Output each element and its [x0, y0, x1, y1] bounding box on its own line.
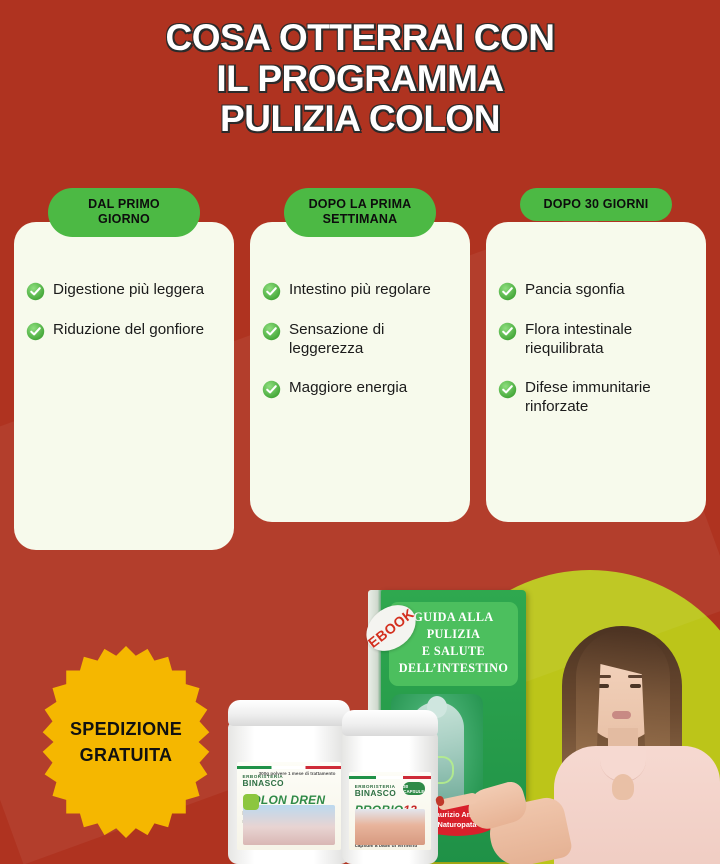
list-item: Digestione più leggera [26, 280, 220, 301]
capsule-count-badge: 30 CAPSULE [403, 782, 425, 795]
product-jar-colon-dren: 300g polvere 1 mese di trattamento ERBOR… [228, 700, 350, 864]
check-circle-icon [262, 322, 281, 341]
card-pill-label-1: DAL PRIMO GIORNO [48, 188, 200, 237]
product-weight: 300g polvere 1 mese di trattamento [259, 771, 336, 778]
benefit-card-first-week: DOPO LA PRIMA SETTIMANA Intestino più re… [250, 222, 470, 522]
benefit-list-2: Intestino più regolare Sensazione di leg… [262, 280, 456, 399]
check-circle-icon [498, 322, 517, 341]
benefit-text: Maggiore energia [289, 378, 407, 397]
list-item: Intestino più regolare [262, 280, 456, 301]
jar-body: 30 CAPSULE ERBORISTERIA BINASCO PROBIO12… [342, 732, 438, 864]
benefit-text: Riduzione del gonfiore [53, 320, 204, 339]
check-circle-icon [26, 282, 45, 301]
benefit-list-3: Pancia sgonfia Flora intestinale riequil… [498, 280, 692, 417]
model-keyhole-detail [612, 774, 634, 800]
benefit-text: Sensazione di leggerezza [289, 320, 456, 359]
list-item: Maggiore energia [262, 378, 456, 399]
list-item: Pancia sgonfia [498, 280, 692, 301]
list-item: Flora intestinale riequilibrata [498, 320, 692, 359]
jar-lid [228, 700, 350, 726]
product-photo [355, 809, 426, 845]
check-circle-icon [262, 282, 281, 301]
italian-flag-stripe [237, 766, 342, 769]
leaf-icon [243, 794, 259, 810]
benefit-card-day-one: DAL PRIMO GIORNO Digestione più leggera [14, 222, 234, 550]
list-item: Sensazione di leggerezza [262, 320, 456, 359]
benefit-cards-row: DAL PRIMO GIORNO Digestione più leggera [14, 222, 706, 550]
shipping-line-2: GRATUITA [80, 742, 173, 768]
shipping-line-1: SPEDIZIONE [70, 716, 182, 742]
check-circle-icon [498, 380, 517, 399]
product-jar-probio-12-mld: 30 CAPSULE ERBORISTERIA BINASCO PROBIO12… [342, 710, 438, 864]
check-circle-icon [26, 322, 45, 341]
headline-line-2: IL PROGRAMMA [0, 59, 720, 100]
jar-lid [342, 710, 438, 736]
benefit-text: Flora intestinale riequilibrata [525, 320, 692, 359]
poster-root: COSA OTTERRAI CON IL PROGRAMMA PULIZIA C… [0, 0, 720, 864]
product-photo [243, 805, 336, 845]
shipping-badge-text: SPEDIZIONE GRATUITA [28, 644, 224, 840]
italian-flag-stripe [349, 776, 432, 779]
jar-label: 300g polvere 1 mese di trattamento ERBOR… [237, 762, 342, 850]
model-eye-left [598, 684, 609, 688]
benefit-list-1: Digestione più leggera Riduzione del gon… [26, 280, 220, 341]
card-pill-label-3: DOPO 30 GIORNI [520, 188, 672, 221]
jar-body: 300g polvere 1 mese di trattamento ERBOR… [228, 722, 350, 864]
model-brow-right [628, 675, 643, 678]
benefit-card-30-days: DOPO 30 GIORNI Pancia sgonfia [486, 222, 706, 522]
free-shipping-badge: SPEDIZIONE GRATUITA [28, 644, 224, 840]
check-circle-icon [262, 380, 281, 399]
page-title: COSA OTTERRAI CON IL PROGRAMMA PULIZIA C… [0, 18, 720, 140]
brand-name: BINASCO [237, 779, 342, 788]
headline-line-3: PULIZIA COLON [0, 99, 720, 140]
list-item: Riduzione del gonfiore [26, 320, 220, 341]
headline-line-1: COSA OTTERRAI CON [0, 18, 720, 59]
model-photo [534, 596, 720, 864]
benefit-text: Difese immunitarie rinforzate [525, 378, 692, 417]
jar-label: 30 CAPSULE ERBORISTERIA BINASCO PROBIO12… [349, 772, 432, 850]
benefit-text: Intestino più regolare [289, 280, 431, 299]
list-item: Difese immunitarie rinforzate [498, 378, 692, 417]
model-eye-right [630, 684, 641, 688]
model-lips [612, 711, 631, 719]
check-circle-icon [498, 282, 517, 301]
card-pill-label-2: DOPO LA PRIMA SETTIMANA [284, 188, 436, 237]
benefit-text: Digestione più leggera [53, 280, 204, 299]
benefit-text: Pancia sgonfia [525, 280, 625, 299]
